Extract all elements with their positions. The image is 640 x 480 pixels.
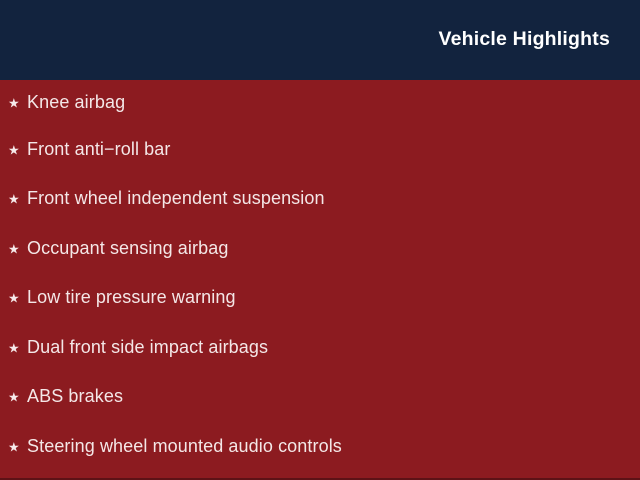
list-item: ★ Dual front side impact airbags xyxy=(0,323,640,373)
list-item-label: Front wheel independent suspension xyxy=(27,188,325,210)
page-title: Vehicle Highlights xyxy=(438,28,610,51)
vehicle-highlights-slide: Vehicle Highlights ★ Knee airbag ★ Front… xyxy=(0,0,640,480)
list-item: ★ Steering wheel mounted audio controls xyxy=(0,422,640,472)
star-bullet-icon: ★ xyxy=(8,341,22,354)
star-bullet-icon: ★ xyxy=(8,242,22,255)
star-bullet-icon: ★ xyxy=(8,193,22,206)
list-item-label: Occupant sensing airbag xyxy=(27,238,228,260)
list-item-label: Dual front side impact airbags xyxy=(27,337,268,359)
list-item: ★ Occupant sensing airbag xyxy=(0,224,640,274)
star-bullet-icon: ★ xyxy=(8,96,22,109)
star-bullet-icon: ★ xyxy=(8,143,22,156)
star-bullet-icon: ★ xyxy=(8,292,22,305)
slide-body: ★ Knee airbag ★ Front anti−roll bar ★ Fr… xyxy=(0,80,640,478)
list-item-label: Front anti−roll bar xyxy=(27,139,170,161)
list-item: ★ ABS brakes xyxy=(0,373,640,423)
list-item-label: Steering wheel mounted audio controls xyxy=(27,436,342,458)
list-item: ★ Low tire pressure warning xyxy=(0,274,640,324)
star-bullet-icon: ★ xyxy=(8,440,22,453)
list-item-label: Low tire pressure warning xyxy=(27,287,236,309)
vehicle-highlights-list: ★ Knee airbag ★ Front anti−roll bar ★ Fr… xyxy=(0,80,640,472)
list-item-label: ABS brakes xyxy=(27,386,123,408)
slide-header: Vehicle Highlights xyxy=(0,0,640,80)
list-item-label: Knee airbag xyxy=(27,92,125,114)
star-bullet-icon: ★ xyxy=(8,391,22,404)
list-item: ★ Front wheel independent suspension xyxy=(0,175,640,225)
list-item: ★ Knee airbag xyxy=(0,80,640,125)
list-item: ★ Front anti−roll bar xyxy=(0,125,640,175)
